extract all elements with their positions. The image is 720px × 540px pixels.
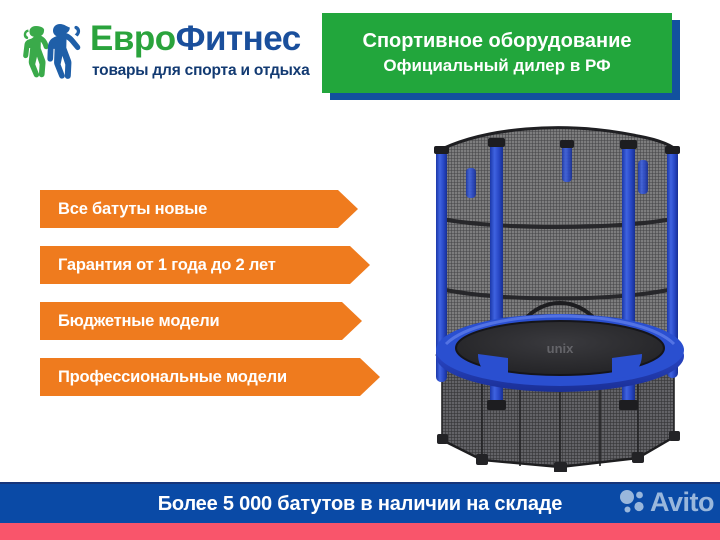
- male-athlete-icon: [47, 24, 80, 79]
- logo-word-fitnes: Фитнес: [176, 19, 301, 58]
- female-athlete-icon: [23, 26, 48, 77]
- bottom-red-strip: [0, 523, 720, 540]
- trampoline-frame-pad: unix: [436, 314, 684, 392]
- feature-badge: Бюджетные модели: [40, 302, 362, 340]
- headline-line-1: Спортивное оборудование: [363, 28, 632, 54]
- feature-badge-label: Бюджетные модели: [40, 312, 219, 331]
- mat-logo-text: unix: [547, 341, 574, 356]
- stock-footer-bar: Более 5 000 батутов в наличии на складе: [0, 482, 720, 527]
- feature-badge-list: Все батуты новые Гарантия от 1 года до 2…: [40, 190, 380, 414]
- headline-box: Спортивное оборудование Официальный диле…: [322, 13, 672, 93]
- stock-footer-text: Более 5 000 батутов в наличии на складе: [158, 493, 562, 516]
- avito-logo-icon: [618, 487, 648, 517]
- feature-badge-label: Гарантия от 1 года до 2 лет: [40, 256, 276, 275]
- headline-line-2: Официальный дилер в РФ: [383, 54, 610, 78]
- avito-watermark: Avito: [618, 484, 714, 520]
- brand-logo[interactable]: ЕвроФитнес товары для спорта и отдыха: [22, 18, 322, 90]
- product-promo-banner: ЕвроФитнес товары для спорта и отдыха Сп…: [0, 0, 720, 540]
- feature-badge-label: Все батуты новые: [40, 200, 207, 219]
- athletes-icon: [22, 20, 88, 80]
- feature-badge: Все батуты новые: [40, 190, 358, 228]
- logo-tagline: товары для спорта и отдыха: [92, 62, 310, 80]
- trampoline-product-image: unix: [412, 122, 708, 472]
- feature-badge-label: Профессиональные модели: [40, 368, 287, 387]
- feature-badge: Гарантия от 1 года до 2 лет: [40, 246, 370, 284]
- feature-badge: Профессиональные модели: [40, 358, 380, 396]
- avito-wordmark: Avito: [650, 487, 714, 518]
- logo-wordmark: ЕвроФитнес: [90, 18, 301, 60]
- logo-word-evro: Евро: [90, 19, 176, 58]
